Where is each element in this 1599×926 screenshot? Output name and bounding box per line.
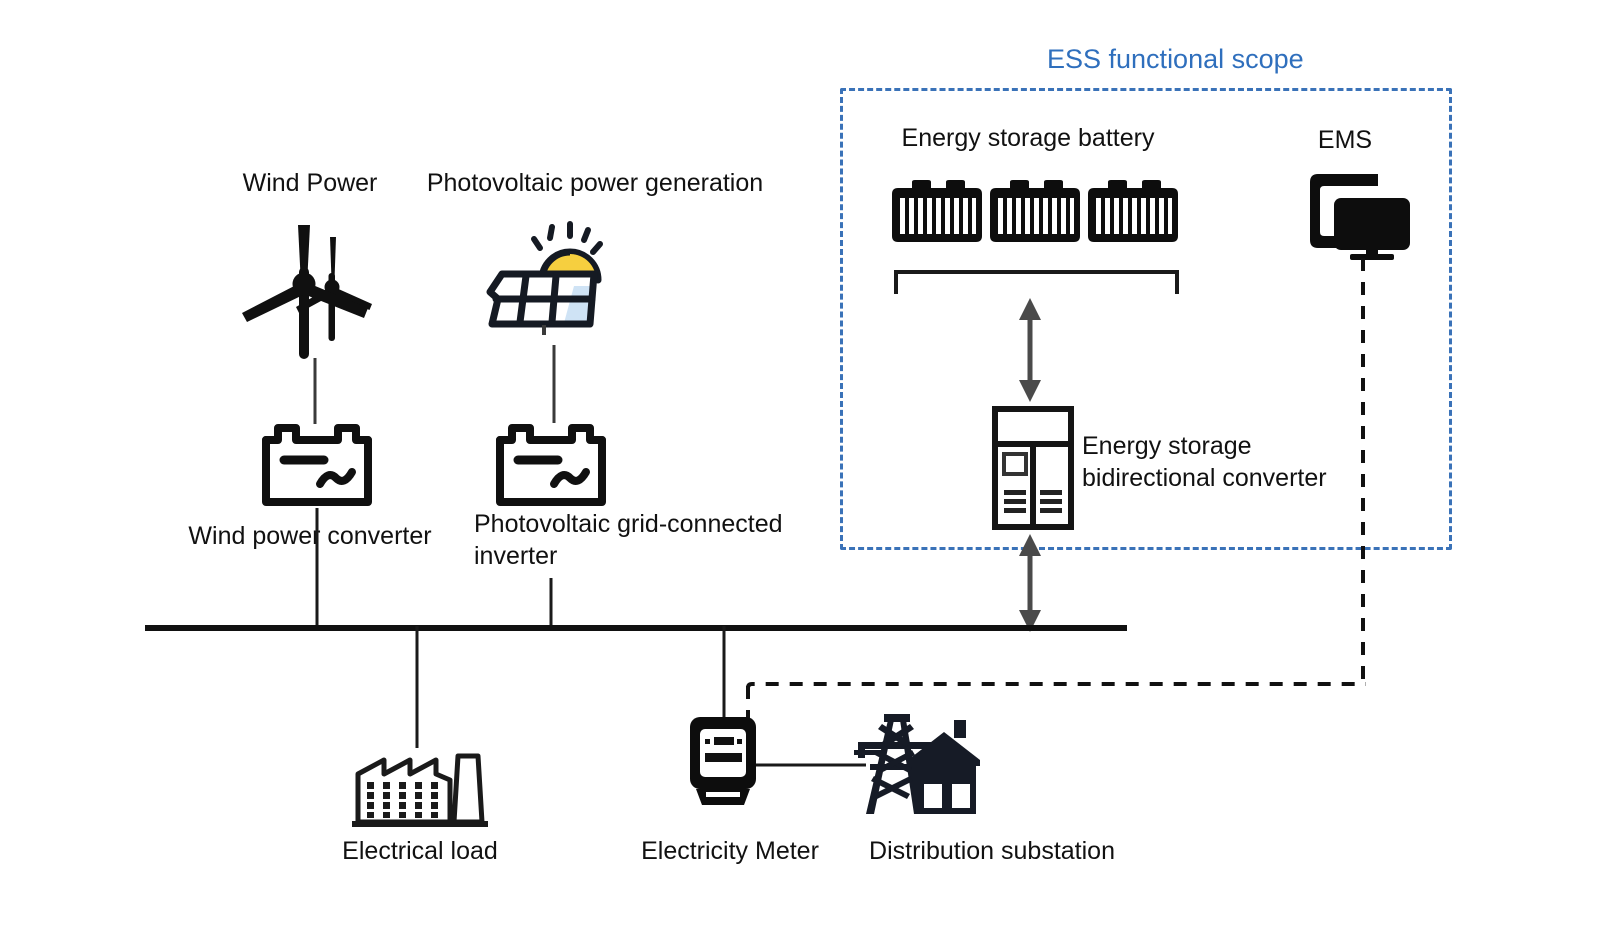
bidirectional-converter-label: Energy storage bidirectional converter: [1082, 430, 1382, 494]
wind-power-label: Wind Power: [243, 167, 378, 199]
converter-bus-arrow: [1010, 532, 1050, 634]
power-converter-icon-pv: [492, 418, 610, 508]
computer-monitors-icon: [1308, 168, 1412, 260]
electricity-meter-icon: [686, 713, 760, 809]
ess-scope-title-text: ESS functional scope: [1047, 44, 1304, 74]
meter-bus-stem: [721, 626, 727, 724]
ess-scope-title: ESS functional scope: [1047, 42, 1304, 77]
electricity-meter-label: Electricity Meter: [641, 835, 819, 867]
battery-icon-1: [888, 178, 986, 248]
distribution-substation-label: Distribution substation: [869, 835, 1115, 867]
wind-turbine-icon: [250, 225, 380, 350]
solar-panel-icon: [478, 222, 618, 337]
electrical-load-label: Electrical load: [342, 835, 498, 867]
pv-generation-label: Photovoltaic power generation: [427, 167, 763, 199]
battery-icon-2: [986, 178, 1084, 248]
battery-converter-arrow: [1010, 296, 1050, 404]
battery-label: Energy storage battery: [902, 122, 1155, 154]
pylon-house-icon: [852, 702, 988, 818]
battery-group-bracket: [894, 268, 1179, 296]
converter-label-line2: bidirectional converter: [1082, 464, 1327, 492]
power-converter-icon-wind: [258, 418, 376, 508]
wind-turbine-drop-line: [312, 358, 318, 424]
wind-converter-label: Wind power converter: [188, 520, 431, 552]
pv-inverter-label-line2: inverter: [474, 542, 557, 570]
ems-control-line-horizontal: [744, 680, 1370, 696]
pv-inverter-label-line1: Photovoltaic grid-connected: [474, 510, 783, 538]
ems-label: EMS: [1318, 124, 1372, 156]
factory-icon: [350, 742, 490, 828]
pv-drop-line: [551, 345, 557, 423]
battery-icon-3: [1084, 178, 1182, 248]
main-bus-bar: [146, 620, 1126, 636]
converter-label-line1: Energy storage: [1082, 432, 1252, 460]
load-bus-stem: [414, 626, 420, 748]
pv-inverter-label: Photovoltaic grid-connected inverter: [474, 508, 824, 572]
converter-cabinet-icon: [992, 406, 1074, 530]
wind-converter-bus-stem: [314, 508, 320, 630]
diagram-canvas: ESS functional scope Wind Power: [0, 0, 1599, 926]
